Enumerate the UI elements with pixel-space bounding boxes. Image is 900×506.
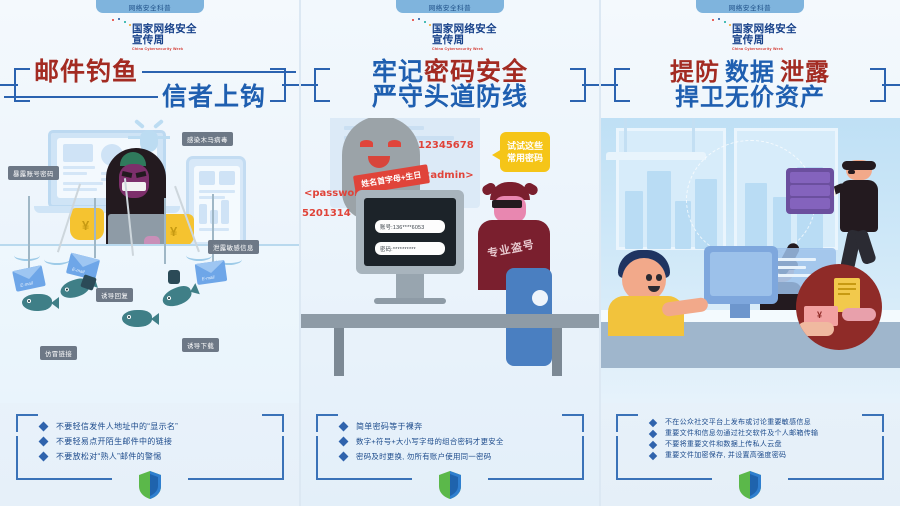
magnifier-detail-circle: ¥ (796, 264, 882, 350)
diamond-bullet-icon (39, 422, 49, 432)
tag-trojan-infection: 感染木马病毒 (182, 132, 233, 146)
panel-tab-label: 网络安全科普 (396, 0, 504, 13)
diamond-bullet-icon (649, 418, 657, 426)
panel2-headline: 牢记密码安全 牢记密码安全 严守头道防线 (300, 58, 600, 114)
weak-password-4: 5201314 (302, 208, 351, 219)
computer-monitor: 账号:136****6053 密码:********** (356, 190, 464, 274)
logo-title-line2: 宣传周 (732, 35, 797, 46)
account-input[interactable]: 账号:136****6053 (375, 220, 445, 233)
bubble-line1: 试试这些 (507, 140, 543, 152)
panel1-illustration: ¥ ¥ (0, 118, 300, 403)
tip-text: 不在公众社交平台上发布或讨论重要敏感信息 (665, 417, 811, 428)
hacker-character (100, 148, 174, 258)
tip-text: 密码及时更换, 勿所有账户使用同一密码 (356, 450, 491, 463)
tip-item: 简单密码等于裸奔 (340, 420, 572, 433)
diamond-bullet-icon (649, 440, 657, 448)
tag-induce-reply: 诱导回复 (96, 288, 133, 302)
tip-item: 不要轻易点开陌生邮件中的链接 (40, 435, 272, 448)
tip-item: 数字+符号+大小写字母的组合密码才更安全 (340, 435, 572, 448)
tip-text: 重要文件加密保存, 并设置高强度密码 (665, 450, 786, 461)
tag-sensitive-leak: 泄露敏感信息 (208, 240, 259, 254)
panel-data-leak: 网络安全科普 国家网络安全 宣传周 China Cybersecurity We… (600, 0, 900, 506)
tip-text: 不要放松对“熟人”邮件的警惕 (56, 450, 162, 463)
cybersecurity-week-logo: 国家网络安全 宣传周 China Cybersecurity Week (391, 16, 509, 58)
panel3-headline-part3: 泄露 (780, 59, 830, 85)
diamond-bullet-icon (39, 437, 49, 447)
tag-exposed-credentials: 暴露账号密码 (8, 166, 59, 180)
tip-text: 不要轻易点开陌生邮件中的链接 (56, 435, 172, 448)
panel-email-phishing: 网络安全科普 国家网络安全 宣传周 China Cybersecurity We… (0, 0, 300, 506)
shield-icon (438, 470, 462, 500)
diamond-bullet-icon (339, 437, 349, 447)
envelope-label: E-mail (201, 275, 214, 282)
cybersecurity-week-logo: 国家网络安全 宣传周 China Cybersecurity Week (691, 16, 809, 58)
tip-text: 简单密码等于裸奔 (356, 420, 422, 433)
tip-item: 不在公众社交平台上发布或讨论重要敏感信息 (650, 417, 882, 428)
password-input[interactable]: 密码:********** (375, 242, 445, 255)
logo-subtitle-en: China Cybersecurity Week (732, 47, 797, 51)
desktop-computer (704, 246, 778, 304)
cybersecurity-poster: 网络安全科普 国家网络安全 宣传周 China Cybersecurity We… (0, 0, 900, 506)
tip-text: 不要轻信发件人地址中的“显示名” (56, 420, 178, 433)
bubble-line2: 常用密码 (507, 152, 543, 164)
shield-icon (738, 470, 762, 500)
logo-title-line1: 国家网络安全 (432, 24, 497, 35)
logo-subtitle-en: China Cybersecurity Week (432, 47, 497, 51)
phone-graphic (186, 156, 246, 250)
logo-title-line1: 国家网络安全 (132, 24, 197, 35)
diamond-bullet-icon (339, 452, 349, 462)
tip-item: 不要将重要文件和数据上传私人云盘 (650, 439, 882, 450)
logo-title-line2: 宣传周 (432, 35, 497, 46)
logo-swoosh-icon (91, 17, 131, 57)
panel-tab-label: 网络安全科普 (96, 0, 204, 13)
tip-item: 不要放松对“熟人”邮件的警惕 (40, 450, 272, 463)
diamond-bullet-icon (39, 452, 49, 462)
panel-tab-label: 网络安全科普 (696, 0, 804, 13)
tip-text: 重要文件和信息勿通过社交软件及个人邮箱传输 (665, 428, 818, 439)
panel3-headline-line2: 捍卫无价资产 (675, 84, 825, 110)
panel3-headline: 提防 数据 泄露 捍卫无价资产 (600, 58, 900, 114)
logo-swoosh-icon (391, 17, 431, 57)
thief-speech-bubble: 试试这些 常用密码 (500, 132, 550, 172)
panel3-headline-part2: 数据 (725, 59, 775, 85)
envelope-label: E-mail (20, 280, 34, 288)
panel2-illustration: 12345678 <admin> <password> 5201314 姓名首字… (300, 118, 600, 403)
diamond-bullet-icon (339, 422, 349, 432)
tip-item: 重要文件加密保存, 并设置高强度密码 (650, 450, 882, 461)
logo-title-line2: 宣传周 (132, 35, 197, 46)
tag-induce-download: 诱导下载 (182, 338, 219, 352)
tip-item: 密码及时更换, 勿所有账户使用同一密码 (340, 450, 572, 463)
weak-password-2: <admin> (422, 170, 474, 181)
panel-password-security: 网络安全科普 国家网络安全 宣传周 China Cybersecurity We… (300, 0, 600, 506)
shield-icon (138, 470, 162, 500)
tip-item: 重要文件和信息勿通过社交软件及个人邮箱传输 (650, 428, 882, 439)
cybersecurity-week-logo: 国家网络安全 宣传周 China Cybersecurity Week (91, 16, 209, 58)
panel3-illustration: ¥ (600, 118, 900, 403)
account-value: 账号:136****6053 (380, 223, 424, 231)
tip-text: 不要将重要文件和数据上传私人云盘 (665, 439, 782, 450)
diamond-bullet-icon (649, 451, 657, 459)
panel1-headline-line1: 邮件钓鱼 (34, 59, 138, 85)
panel3-headline-part1: 提防 (670, 59, 720, 85)
password-value: 密码:********** (380, 245, 416, 253)
logo-title-line1: 国家网络安全 (732, 24, 797, 35)
panel1-headline: 邮件钓鱼 信者上钩 (0, 58, 300, 114)
tip-text: 数字+符号+大小写字母的组合密码才更安全 (356, 435, 504, 448)
tip-item: 不要轻信发件人地址中的“显示名” (40, 420, 272, 433)
email-envelope: E-mail (195, 260, 228, 285)
weak-password-1: 12345678 (418, 140, 474, 151)
logo-subtitle-en: China Cybersecurity Week (132, 47, 197, 51)
server-rack-icon (786, 168, 834, 214)
diamond-bullet-icon (649, 429, 657, 437)
logo-swoosh-icon (691, 17, 731, 57)
water-area (0, 244, 300, 403)
tag-fake-link: 仿冒链接 (40, 346, 77, 360)
panel1-headline-line2: 信者上钩 (162, 84, 266, 110)
envelope-label: E-mail (71, 267, 85, 275)
panel2-headline-line2: 严守头道防线 (372, 84, 528, 110)
